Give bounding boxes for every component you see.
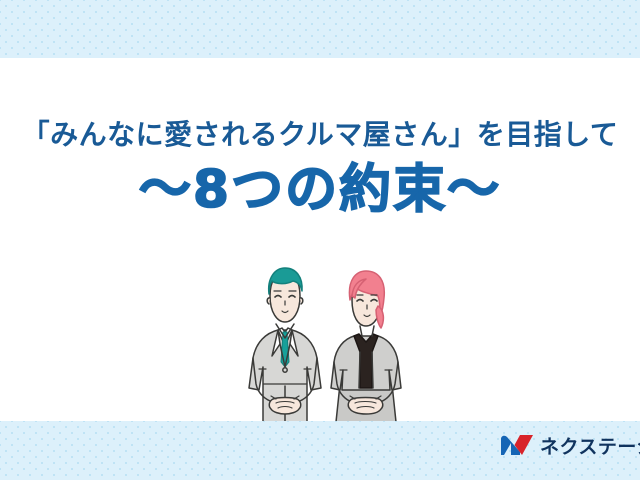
top-dot-band (0, 0, 640, 58)
two-bowing-staff-illustration (228, 266, 416, 426)
headline-line-2: 〜8つの約束〜 (0, 161, 640, 219)
headline-line-1: 「みんなに愛されるクルマ屋さん」を目指して (0, 118, 640, 151)
male-staff-figure (249, 268, 321, 422)
brand-logo-text: ネクステージ (540, 438, 640, 457)
brand-logo: ネクステージ (500, 434, 640, 461)
female-staff-figure (331, 271, 401, 422)
nextage-n-logo-icon (500, 434, 534, 461)
headline-block: 「みんなに愛されるクルマ屋さん」を目指して 〜8つの約束〜 (0, 118, 640, 219)
slide-canvas: 「みんなに愛されるクルマ屋さん」を目指して 〜8つの約束〜 (0, 0, 640, 480)
